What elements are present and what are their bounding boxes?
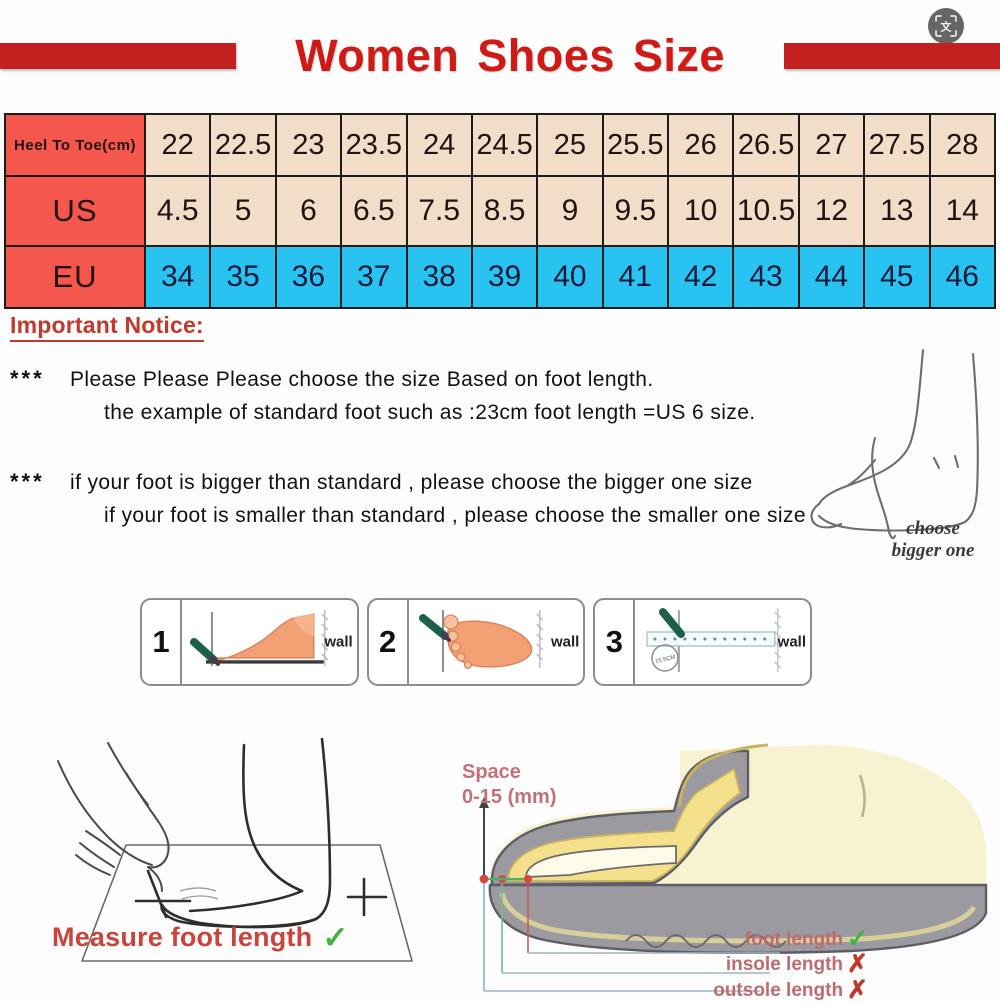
check-icon: ✓ (322, 922, 348, 953)
size-chart-page: 文 WomenShoesSize Heel To Toe(cm) 22 22.5… (0, 0, 1000, 1000)
row-label-heel-to-toe: Heel To Toe(cm) (5, 114, 145, 176)
cell-cm-10: 27 (799, 114, 864, 176)
wall-label-2: wall (551, 634, 579, 651)
cell-cm-2: 23 (276, 114, 341, 176)
legend-label-outsole-length: outsole length (713, 978, 843, 1003)
table-row-heel-to-toe: Heel To Toe(cm) 22 22.5 23 23.5 24 24.5 … (5, 114, 995, 176)
cell-us-8: 10 (668, 176, 733, 246)
row-label-us: US (5, 176, 145, 246)
step-panel-2: 2 (367, 598, 586, 686)
notice-block-2: *** if your foot is bigger than standard… (10, 467, 870, 532)
title-rule-right (784, 43, 1000, 69)
cell-cm-1: 22.5 (210, 114, 275, 176)
measure-caption-text: Measure foot length (52, 922, 312, 953)
choose-caption-line2: bigger one (858, 540, 1000, 562)
notice-title: Important Notice: (10, 312, 204, 342)
step-art-1: wall (182, 600, 357, 684)
row-label-eu: EU (5, 246, 145, 308)
step-number-3: 3 (595, 600, 635, 684)
cell-eu-3: 37 (341, 246, 406, 308)
cell-eu-10: 44 (799, 246, 864, 308)
cell-us-5: 8.5 (472, 176, 537, 246)
cell-cm-4: 24 (407, 114, 472, 176)
cell-us-11: 13 (864, 176, 929, 246)
size-table-body: Heel To Toe(cm) 22 22.5 23 23.5 24 24.5 … (5, 114, 995, 308)
size-conversion-table: Heel To Toe(cm) 22 22.5 23 23.5 24 24.5 … (4, 113, 996, 309)
shoe-diagram-legend: foot length ✓ insole length ✗ outsole le… (608, 927, 868, 1003)
step-panel-3: 3 15.5CM (593, 598, 812, 686)
table-row-eu: EU 34 35 36 37 38 39 40 41 42 43 44 45 4… (5, 246, 995, 308)
title-word-2: Shoes (477, 30, 615, 81)
cell-cm-5: 24.5 (472, 114, 537, 176)
cell-cm-12: 28 (930, 114, 996, 176)
notice-text-1: Please Please Please choose the size Bas… (70, 364, 756, 429)
check-icon-foot-length: ✓ (847, 927, 868, 952)
wall-label-3: wall (778, 634, 806, 651)
notice-line-1a: Please Please Please choose the size Bas… (70, 368, 654, 391)
legend-item-outsole-length: outsole length ✗ (608, 978, 868, 1003)
cell-eu-5: 39 (472, 246, 537, 308)
legend-label-foot-length: foot length (745, 927, 843, 952)
notice-line-1b: the example of standard foot such as :23… (70, 397, 756, 430)
important-notice: Important Notice: *** Please Please Plea… (10, 312, 870, 532)
cell-us-2: 6 (276, 176, 341, 246)
cross-icon-outsole-length: ✗ (847, 978, 868, 1003)
notice-block-1: *** Please Please Please choose the size… (10, 364, 870, 429)
choose-caption-line1: choose (858, 518, 1000, 540)
notice-text-2: if your foot is bigger than standard , p… (70, 467, 806, 532)
cell-us-12: 14 (930, 176, 996, 246)
cell-us-3: 6.5 (341, 176, 406, 246)
title-word-1: Women (295, 30, 459, 81)
cell-us-9: 10.5 (733, 176, 798, 246)
cell-cm-3: 23.5 (341, 114, 406, 176)
cell-us-7: 9.5 (603, 176, 668, 246)
cell-cm-6: 25 (537, 114, 602, 176)
cell-cm-7: 25.5 (603, 114, 668, 176)
cell-eu-9: 43 (733, 246, 798, 308)
cross-icon-insole-length: ✗ (847, 952, 868, 977)
page-title: WomenShoesSize (280, 30, 740, 82)
space-label-line2: 0-15 (mm) (462, 785, 556, 810)
notice-stars-1: *** (10, 364, 70, 394)
cell-cm-8: 26 (668, 114, 733, 176)
title-rule-left (0, 43, 236, 69)
cell-eu-4: 38 (407, 246, 472, 308)
cell-us-10: 12 (799, 176, 864, 246)
cell-cm-9: 26.5 (733, 114, 798, 176)
notice-line-2b: if your foot is smaller than standard , … (70, 500, 806, 533)
cell-us-4: 7.5 (407, 176, 472, 246)
step-number-2: 2 (369, 600, 409, 684)
page-title-row: WomenShoesSize (0, 30, 1000, 82)
cell-eu-0: 34 (145, 246, 210, 308)
wall-label-1: wall (324, 634, 352, 651)
step-art-2: wall (409, 600, 584, 684)
step-art-3: 15.5CM wall (635, 600, 810, 684)
space-annotation: Space 0-15 (mm) (462, 760, 556, 810)
cell-us-6: 9 (537, 176, 602, 246)
legend-item-insole-length: insole length ✗ (608, 952, 868, 977)
cell-eu-11: 45 (864, 246, 929, 308)
title-word-3: Size (633, 30, 725, 81)
table-row-us: US 4.5 5 6 6.5 7.5 8.5 9 9.5 10 10.5 12 … (5, 176, 995, 246)
cell-eu-8: 42 (668, 246, 733, 308)
space-label-line1: Space (462, 760, 556, 785)
ruler-note: 15.5CM (655, 654, 677, 665)
notice-line-2a: if your foot is bigger than standard , p… (70, 471, 753, 494)
notice-stars-2: *** (10, 467, 70, 497)
cell-us-1: 5 (210, 176, 275, 246)
step-panel-1: 1 wall (140, 598, 359, 686)
legend-item-foot-length: foot length ✓ (608, 927, 868, 952)
cell-cm-0: 22 (145, 114, 210, 176)
measure-foot-caption: Measure foot length ✓ (52, 922, 382, 953)
cell-eu-6: 40 (537, 246, 602, 308)
measuring-steps: 1 wall (140, 598, 812, 686)
cell-eu-12: 46 (930, 246, 996, 308)
choose-bigger-caption: choose bigger one (858, 518, 1000, 562)
cell-cm-11: 27.5 (864, 114, 929, 176)
cell-eu-1: 35 (210, 246, 275, 308)
legend-label-insole-length: insole length (726, 952, 843, 977)
cell-us-0: 4.5 (145, 176, 210, 246)
step-number-1: 1 (142, 600, 182, 684)
cell-eu-2: 36 (276, 246, 341, 308)
cell-eu-7: 41 (603, 246, 668, 308)
